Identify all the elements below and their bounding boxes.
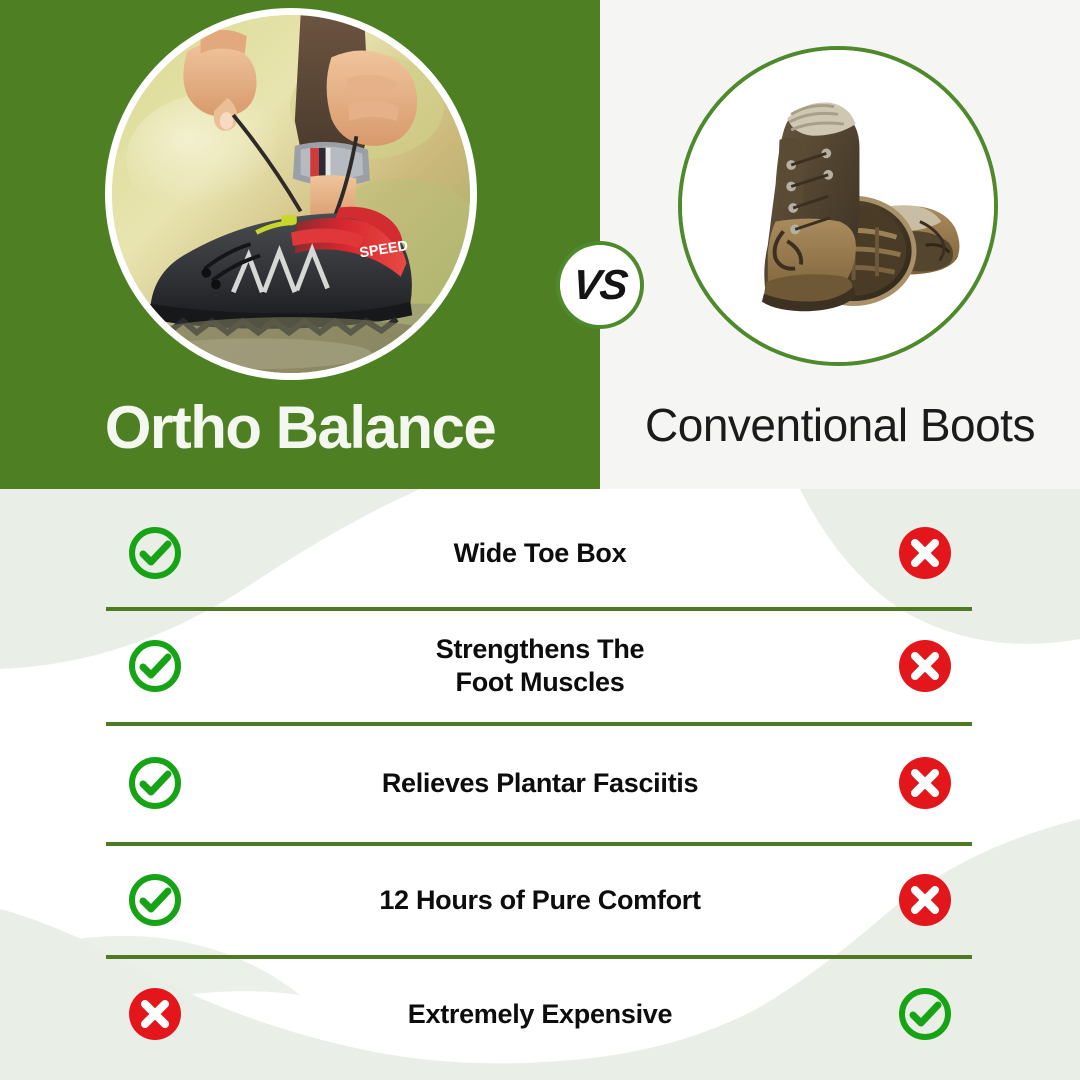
row-divider [106, 842, 972, 846]
row-5-feature-label: Extremely Expensive [310, 998, 770, 1031]
check-circle-icon [127, 872, 183, 928]
hero-title-conventional-boots: Conventional Boots [600, 402, 1080, 448]
cross-circle-icon [897, 525, 953, 581]
table-row: Relieves Plantar Fasciitis [0, 729, 1080, 837]
row-5-right-status [770, 986, 1080, 1042]
product-image-ortho-balance: SPEED [105, 8, 477, 380]
comparison-infographic: SPEED VS [0, 0, 1080, 1080]
row-5-left-status [0, 986, 310, 1042]
row-2-left-status [0, 638, 310, 694]
row-divider [106, 722, 972, 726]
cross-circle-icon [897, 638, 953, 694]
row-1-feature-label: Wide Toe Box [310, 537, 770, 570]
check-circle-icon [127, 525, 183, 581]
table-row: Wide Toe Box [0, 503, 1080, 603]
running-shoe-photo-illustration: SPEED [112, 15, 470, 373]
row-4-right-status [770, 872, 1080, 928]
table-row: Extremely Expensive [0, 961, 1080, 1067]
check-circle-icon [127, 638, 183, 694]
row-1-right-status [770, 525, 1080, 581]
table-row: 12 Hours of Pure Comfort [0, 847, 1080, 953]
row-3-right-status [770, 755, 1080, 811]
row-divider [106, 955, 972, 959]
check-circle-icon [127, 755, 183, 811]
muddy-boots-photo-illustration [682, 50, 994, 362]
row-3-feature-label: Relieves Plantar Fasciitis [310, 767, 770, 800]
hero-section: SPEED VS [0, 0, 1080, 489]
hero-title-ortho-balance: Ortho Balance [0, 398, 600, 458]
row-2-feature-label: Strengthens The Foot Muscles [310, 633, 770, 699]
vs-badge: VS [556, 241, 644, 329]
cross-circle-icon [127, 986, 183, 1042]
row-2-right-status [770, 638, 1080, 694]
cross-circle-icon [897, 872, 953, 928]
feature-rows: Wide Toe Box Strengthens The F [0, 489, 1080, 1080]
row-3-left-status [0, 755, 310, 811]
cross-circle-icon [897, 755, 953, 811]
check-circle-icon [897, 986, 953, 1042]
row-4-feature-label: 12 Hours of Pure Comfort [310, 884, 770, 917]
product-image-conventional-boots [678, 46, 998, 366]
row-1-left-status [0, 525, 310, 581]
comparison-table: Wide Toe Box Strengthens The F [0, 489, 1080, 1080]
row-4-left-status [0, 872, 310, 928]
table-row: Strengthens The Foot Muscles [0, 611, 1080, 721]
vs-label: VS [570, 261, 629, 309]
